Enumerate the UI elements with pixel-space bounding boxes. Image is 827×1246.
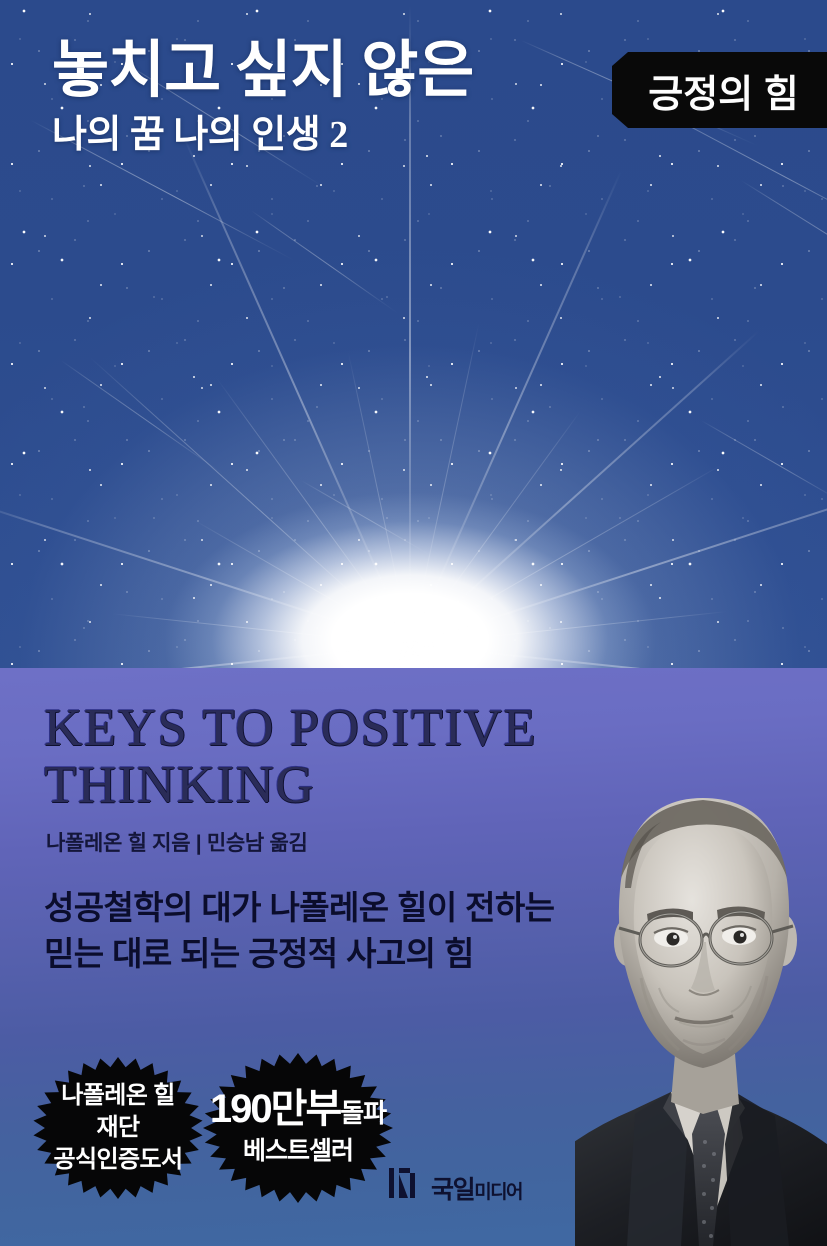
- seal-left-line-2: 재단: [54, 1112, 183, 1144]
- book-cover: 놓치고 싶지 않은 나의 꿈 나의 인생 2 긍정의 힘 KEYS TO POS…: [0, 0, 827, 1246]
- publisher-name-main: 국일: [431, 1176, 474, 1204]
- film-scratch: [250, 209, 398, 313]
- bestseller-count-suffix: 돌파: [340, 1098, 386, 1128]
- light-streak: [90, 357, 410, 646]
- bestseller-label: 베스트셀러: [210, 1135, 386, 1168]
- tagline-line-2: 믿는 대로 되는 긍정적 사고의 힘: [44, 931, 554, 977]
- english-title: KEYS TO POSITIVE THINKING: [44, 700, 537, 814]
- page-subtitle: 나의 꿈 나의 인생 2: [52, 113, 473, 159]
- title-block: 놓치고 싶지 않은 나의 꿈 나의 인생 2: [52, 40, 473, 159]
- napoleon-hill-portrait: [575, 792, 827, 1246]
- light-streak: [181, 133, 410, 645]
- publisher-name-tail: 미디어: [474, 1182, 522, 1203]
- bestseller-count-row: 190만부돌파: [210, 1088, 386, 1130]
- certification-seal: 나폴레온 힐 재단 공식인증도서: [33, 1057, 203, 1199]
- english-title-line-1: KEYS TO POSITIVE: [44, 699, 537, 757]
- light-streak: [409, 170, 622, 646]
- light-streak: [410, 464, 722, 645]
- tagline-line-1: 성공철학의 대가 나폴레온 힐이 전하는: [44, 885, 554, 931]
- bestseller-count: 190만부: [210, 1087, 340, 1131]
- film-scratch: [60, 359, 225, 475]
- author-credit: 나폴레온 힐 지음 | 민승남 옮김: [46, 827, 308, 857]
- seal-left-line-1: 나폴레온 힐: [54, 1080, 183, 1112]
- film-scratch: [700, 419, 827, 505]
- page-title: 놓치고 싶지 않은: [52, 40, 473, 103]
- publisher-name: 국일미디어: [431, 1178, 522, 1203]
- tagline: 성공철학의 대가 나폴레온 힐이 전하는 믿는 대로 되는 긍정적 사고의 힘: [44, 885, 554, 976]
- bestseller-seal-text: 190만부돌파 베스트셀러: [210, 1088, 386, 1168]
- bestseller-seal: 190만부돌파 베스트셀러: [203, 1053, 393, 1203]
- publisher-imprint: 국일미디어: [388, 1168, 522, 1203]
- certification-seal-text: 나폴레온 힐 재단 공식인증도서: [54, 1080, 183, 1176]
- seal-left-line-3: 공식인증도서: [54, 1144, 183, 1176]
- light-streak: [409, 330, 759, 646]
- status-badge: 긍정의 힘: [612, 52, 827, 128]
- light-streak: [193, 520, 410, 646]
- gukil-media-logo-icon: [388, 1168, 422, 1203]
- status-badge-label: 긍정의 힘: [640, 63, 798, 118]
- light-streak: [410, 644, 751, 668]
- english-title-line-2: THINKING: [44, 757, 537, 814]
- film-scratch: [740, 179, 827, 297]
